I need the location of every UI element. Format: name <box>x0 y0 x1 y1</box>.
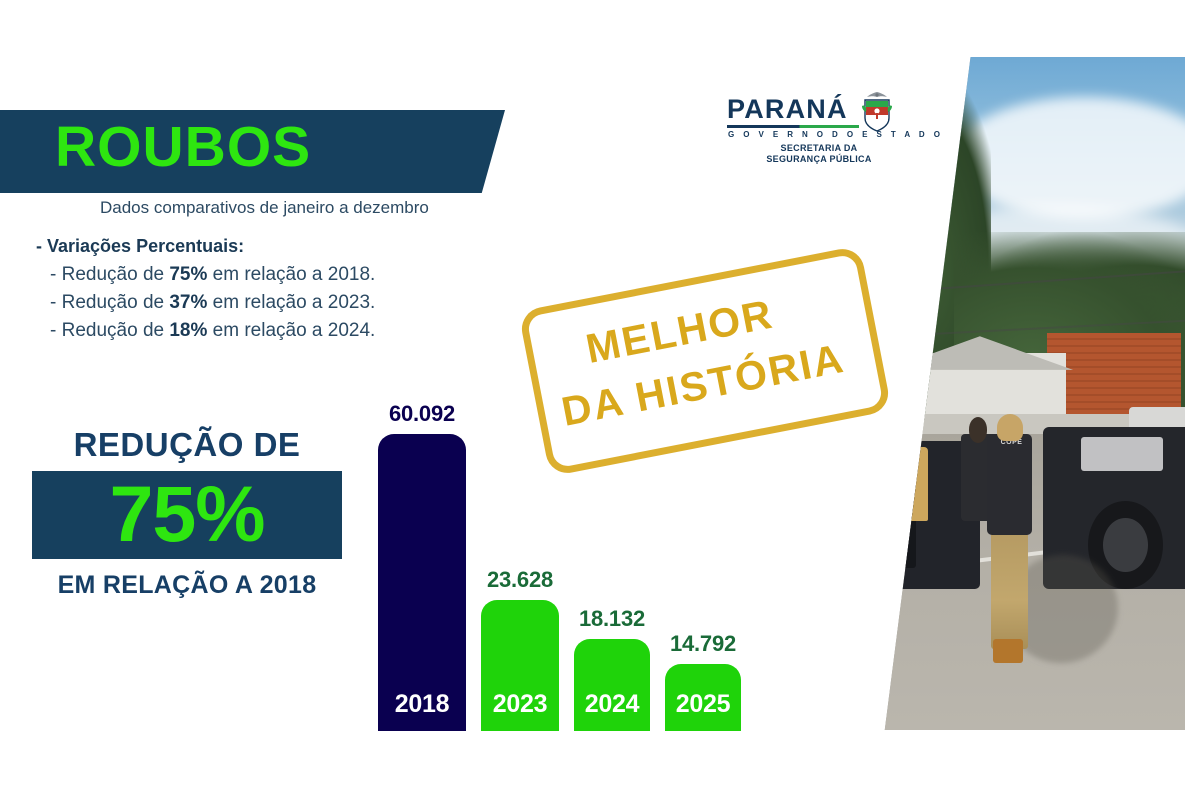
variation-item-2018: - Redução de 75% em relação a 2018. <box>50 264 516 286</box>
bar-value-label: 14.792 <box>670 631 736 657</box>
variation-prefix: - Redução de <box>50 320 169 341</box>
logo-department-line1: SECRETARIA DA <box>749 143 889 154</box>
bar-rect: 2018 <box>378 434 466 731</box>
bar-group-2018: 60.0922018 <box>378 434 466 731</box>
bar-rect: 2024 <box>574 639 650 731</box>
reduction-top-label: REDUÇÃO DE <box>32 428 342 463</box>
bar-value-label: 60.092 <box>389 401 455 427</box>
parana-government-logo: PARANÁ G O V E R N O D O E S T A D O SEC… <box>727 96 902 164</box>
bar-value-label: 18.132 <box>579 606 645 632</box>
photo-officer-head <box>969 417 988 443</box>
bar-year-label: 2023 <box>493 690 547 731</box>
variation-suffix: em relação a 2024. <box>207 320 375 341</box>
melhor-da-historia-stamp: MELHOR DA HISTÓRIA <box>518 245 892 476</box>
photo-vehicle-window <box>1081 437 1163 471</box>
page-title: ROUBOS <box>55 119 311 176</box>
variations-heading: - Variações Percentuais: <box>36 236 516 257</box>
variation-suffix: em relação a 2018. <box>207 264 375 285</box>
photo-officer-tan <box>898 447 928 521</box>
parana-coat-of-arms-icon <box>860 92 894 136</box>
variation-value: 18% <box>169 320 207 341</box>
bar-rect: 2023 <box>481 600 559 731</box>
logo-rule <box>727 125 859 128</box>
reduction-percent-value: 75% <box>109 478 264 551</box>
logo-wordmark: PARANÁ <box>727 96 848 123</box>
bar-year-label: 2025 <box>676 690 730 731</box>
bar-group-2025: 14.7922025 <box>665 664 741 731</box>
photo-officer-legs <box>991 528 1028 649</box>
bar-value-label: 23.628 <box>487 567 553 593</box>
variation-item-2024: - Redução de 18% em relação a 2024. <box>50 320 516 342</box>
bar-year-label: 2024 <box>585 690 639 731</box>
bar-year-label: 2018 <box>395 690 449 731</box>
photo-officer-boot <box>993 639 1023 663</box>
logo-government-line: G O V E R N O D O E S T A D O <box>728 130 943 139</box>
bar-rect: 2025 <box>665 664 741 731</box>
logo-department-line2: SEGURANÇA PÚBLICA <box>749 154 889 165</box>
photo-officer-cap <box>997 414 1023 441</box>
reduction-percent-box: 75% <box>32 471 342 559</box>
photo-vehicle-door <box>872 454 917 568</box>
bar-group-2023: 23.6282023 <box>481 600 559 731</box>
variation-suffix: em relação a 2023. <box>207 292 375 313</box>
photo-officer-vest <box>987 434 1032 535</box>
page-subtitle: Dados comparativos de janeiro a dezembro <box>100 198 429 218</box>
reduction-callout: REDUÇÃO DE 75% EM RELAÇÃO A 2018 <box>32 428 342 600</box>
photo-officer-head <box>903 431 920 455</box>
bar-group-2024: 18.1322024 <box>574 639 650 731</box>
variation-item-2023: - Redução de 37% em relação a 2023. <box>50 292 516 314</box>
logo-department: SECRETARIA DA SEGURANÇA PÚBLICA <box>749 143 889 166</box>
variation-value: 75% <box>169 264 207 285</box>
variation-prefix: - Redução de <box>50 292 169 313</box>
photo-vehicle-rim <box>1103 518 1148 572</box>
variations-block: - Variações Percentuais: - Redução de 75… <box>36 236 516 348</box>
variation-prefix: - Redução de <box>50 264 169 285</box>
variation-value: 37% <box>169 292 207 313</box>
reduction-bottom-label: EM RELAÇÃO A 2018 <box>32 571 342 600</box>
